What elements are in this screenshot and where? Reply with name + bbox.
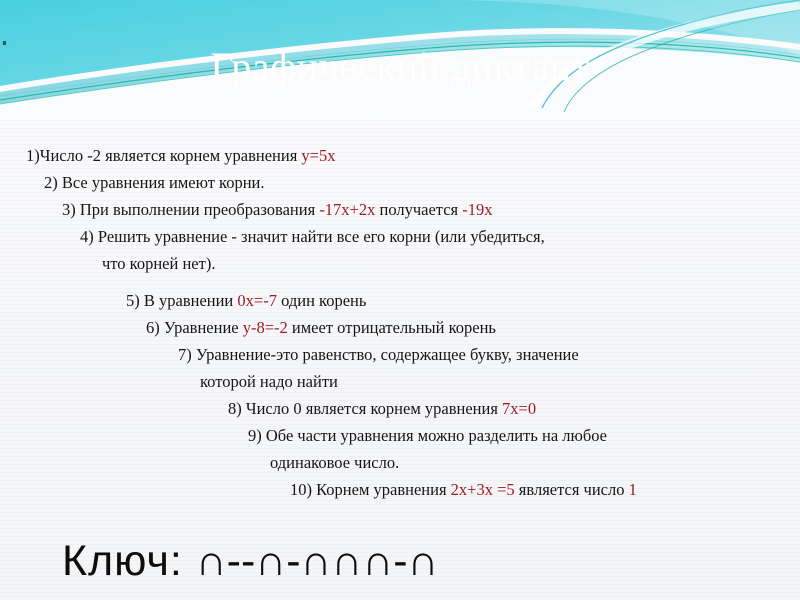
statement-item-6: 6) Уравнение y-8=-2 имеет отрицательный … bbox=[0, 314, 800, 341]
statement-text: Уравнение bbox=[160, 318, 243, 337]
statement-item-8: 8) Число 0 является корнем уравнения 7x=… bbox=[0, 395, 800, 422]
statement-number: 7) bbox=[178, 345, 192, 364]
statement-highlight: 0x=-7 bbox=[237, 291, 277, 310]
statement-text: Решить уравнение - значит найти все его … bbox=[94, 227, 545, 246]
answer-key-value: ∩--∩-∩∩∩-∩ bbox=[196, 537, 439, 585]
statement-item-3: 3) При выполнении преобразования -17x+2x… bbox=[0, 196, 800, 223]
answer-key-inner: Ключ: ∩--∩-∩∩∩-∩ bbox=[62, 536, 800, 586]
statement-text: Корнем уравнения bbox=[312, 480, 451, 499]
statement-list: 1)Число -2 является корнем уравнения y=5… bbox=[0, 142, 800, 503]
statement-number: 5) bbox=[126, 291, 140, 310]
answer-key-label: Ключ: bbox=[62, 537, 183, 585]
statement-number: 10) bbox=[290, 480, 312, 499]
statement-number: 1) bbox=[26, 146, 40, 165]
statement-item-9: 9) Обе части уравнения можно разделить н… bbox=[0, 422, 800, 476]
statement-text: При выполнении преобразования bbox=[76, 200, 320, 219]
statement-item-5: 5) В уравнении 0x=-7 один корень bbox=[0, 287, 800, 314]
statement-text: В уравнении bbox=[140, 291, 238, 310]
statement-highlight-2: 1 bbox=[629, 480, 637, 499]
answer-key-line: Ключ: ∩--∩-∩∩∩-∩ bbox=[62, 536, 800, 600]
statement-highlight: y-8=-2 bbox=[243, 318, 288, 337]
presentation-slide: Графический диктант 1)Число -2 является … bbox=[0, 0, 800, 600]
statement-number: 9) bbox=[248, 426, 262, 445]
statement-highlight: 7x=0 bbox=[502, 399, 536, 418]
statement-text: Число 0 является корнем уравнения bbox=[242, 399, 502, 418]
statement-number: 6) bbox=[146, 318, 160, 337]
statement-highlight: y=5x bbox=[301, 146, 335, 165]
statement-text: Число -2 является корнем уравнения bbox=[40, 146, 302, 165]
statement-number: 8) bbox=[228, 399, 242, 418]
statement-continuation: которой надо найти bbox=[178, 368, 730, 395]
statement-text: Уравнение-это равенство, содержащее букв… bbox=[192, 345, 579, 364]
statement-continuation: одинаковое число. bbox=[248, 449, 750, 476]
statement-item-10: 10) Корнем уравнения 2x+3x =5 является ч… bbox=[0, 476, 800, 503]
statement-continuation: что корней нет). bbox=[80, 250, 740, 277]
statement-number: 4) bbox=[80, 227, 94, 246]
statement-item-1: 1)Число -2 является корнем уравнения y=5… bbox=[0, 142, 800, 169]
statement-highlight: -17x+2x bbox=[319, 200, 375, 219]
statement-item-7: 7) Уравнение-это равенство, содержащее б… bbox=[0, 341, 800, 395]
statement-highlight: 2x+3x =5 bbox=[451, 480, 515, 499]
statement-highlight-2: -19x bbox=[462, 200, 492, 219]
statement-text-after: является число bbox=[515, 480, 629, 499]
statement-text: Все уравнения имеют корни. bbox=[58, 173, 265, 192]
statement-item-4: 4) Решить уравнение - значит найти все е… bbox=[0, 223, 800, 277]
statement-text-after: имеет отрицательный корень bbox=[288, 318, 496, 337]
statement-text-after: получается bbox=[375, 200, 462, 219]
statement-text-after: один корень bbox=[277, 291, 366, 310]
statement-number: 2) bbox=[44, 173, 58, 192]
statement-text: Обе части уравнения можно разделить на л… bbox=[262, 426, 607, 445]
statement-number: 3) bbox=[62, 200, 76, 219]
page-title: Графический диктант bbox=[0, 44, 800, 90]
statement-item-2: 2) Все уравнения имеют корни. bbox=[0, 169, 800, 196]
